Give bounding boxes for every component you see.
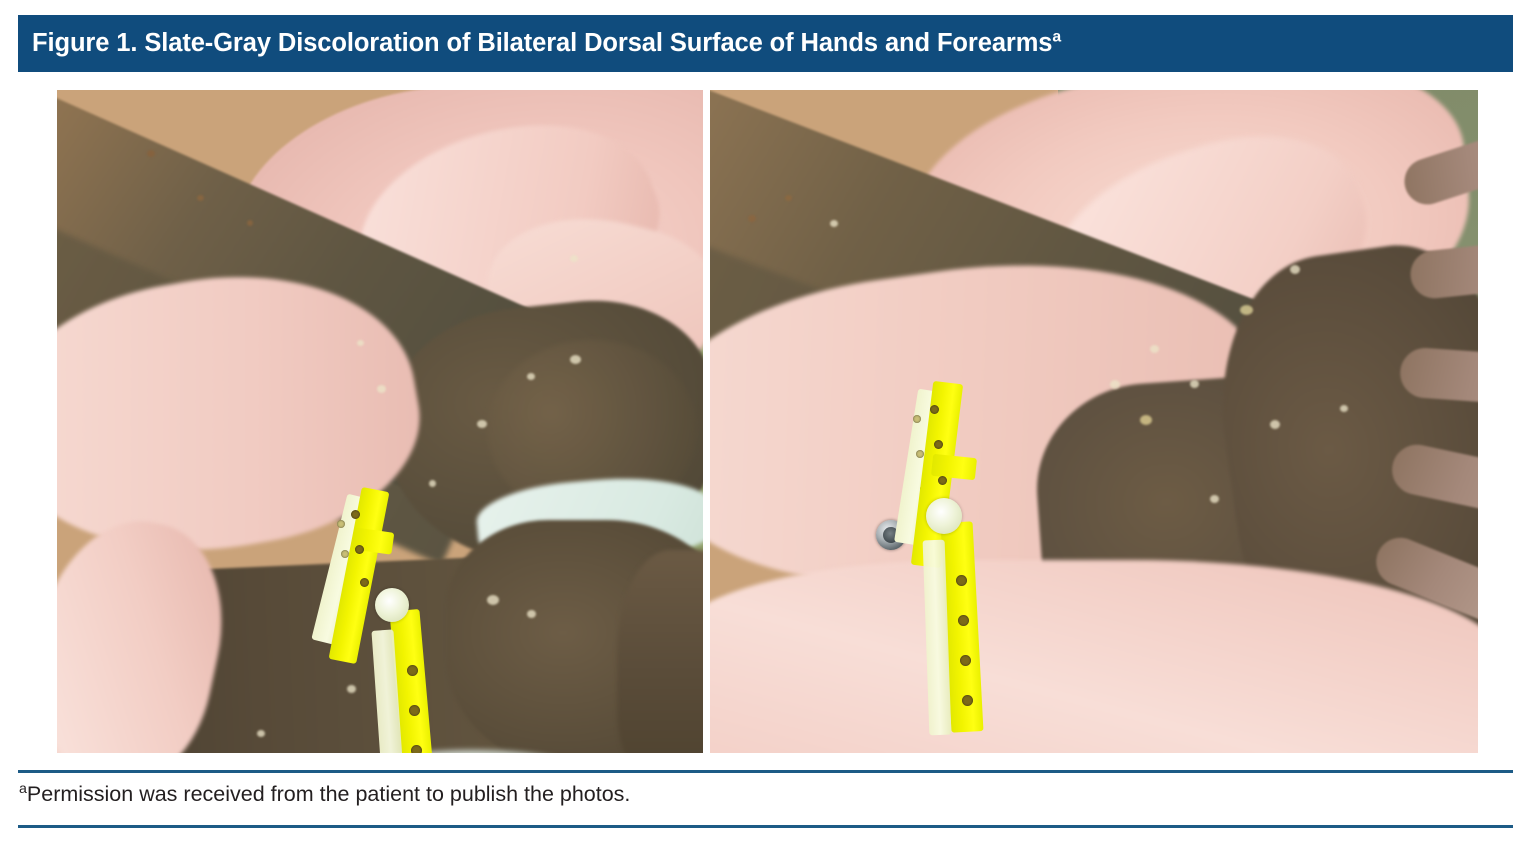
figure-header-bar: Figure 1. Slate-Gray Discoloration of Bi… <box>18 15 1513 72</box>
wristband-hole <box>958 615 969 626</box>
wristband-hole <box>962 695 973 706</box>
skin-macule <box>429 480 436 487</box>
figure-photo-strip <box>57 90 1478 753</box>
wristband-hole <box>411 745 422 753</box>
wristband-hole <box>337 520 345 528</box>
skin-macule <box>377 385 386 393</box>
clinical-photo-left <box>57 90 703 753</box>
skin-lentigo <box>785 195 792 201</box>
skin-macule <box>257 730 265 737</box>
footnote-rule-top <box>18 770 1513 773</box>
skin-lentigo <box>748 215 756 222</box>
skin-macule <box>347 685 356 693</box>
figure-footnote: aPermission was received from the patien… <box>19 783 1419 807</box>
wristband-hole <box>938 476 947 485</box>
wristband-hole <box>956 575 967 586</box>
wristband-hole <box>916 450 924 458</box>
skin-macule <box>1110 380 1120 389</box>
figure-title-footnote-marker: a <box>1052 28 1061 45</box>
skin-macule <box>527 373 535 380</box>
skin-lentigo <box>247 220 253 226</box>
skin-macule <box>1270 420 1280 429</box>
wristband-clasp-left <box>375 588 409 622</box>
clinical-photo-right <box>710 90 1478 753</box>
wristband-hole <box>913 415 921 423</box>
skin-lentigo <box>197 195 204 201</box>
skin-macule <box>1140 415 1152 425</box>
skin-macule <box>527 610 536 618</box>
skin-macule <box>1150 345 1159 353</box>
footnote-marker: a <box>19 781 27 797</box>
wristband-hole <box>355 545 364 554</box>
wristband-clasp-right <box>926 498 962 534</box>
skin-macule <box>830 220 838 227</box>
wristband-hole <box>930 405 939 414</box>
wristband-hole <box>351 510 360 519</box>
skin-macule <box>570 255 578 262</box>
figure-title-text: Figure 1. Slate-Gray Discoloration of Bi… <box>32 29 1052 57</box>
figure-title: Figure 1. Slate-Gray Discoloration of Bi… <box>32 31 1061 57</box>
wristband-hole <box>360 578 369 587</box>
wristband-hole <box>934 440 943 449</box>
skin-macule <box>477 420 487 428</box>
skin-macule <box>1240 305 1253 315</box>
skin-macule <box>487 595 499 605</box>
skin-macule <box>1290 265 1300 274</box>
wristband-hole <box>409 705 420 716</box>
pink-garment-lower-right <box>710 560 1478 753</box>
skin-macule <box>1340 405 1348 412</box>
skin-macule <box>357 340 364 346</box>
skin-macule <box>1210 495 1219 503</box>
wristband-hole <box>407 665 418 676</box>
skin-macule <box>1190 380 1199 388</box>
footnote-rule-bottom <box>18 825 1513 828</box>
wristband-hole <box>960 655 971 666</box>
skin-lentigo <box>147 150 155 157</box>
wristband-yellow-tab-right <box>931 454 977 480</box>
footnote-text: Permission was received from the patient… <box>27 782 631 806</box>
skin-macule <box>570 355 581 364</box>
